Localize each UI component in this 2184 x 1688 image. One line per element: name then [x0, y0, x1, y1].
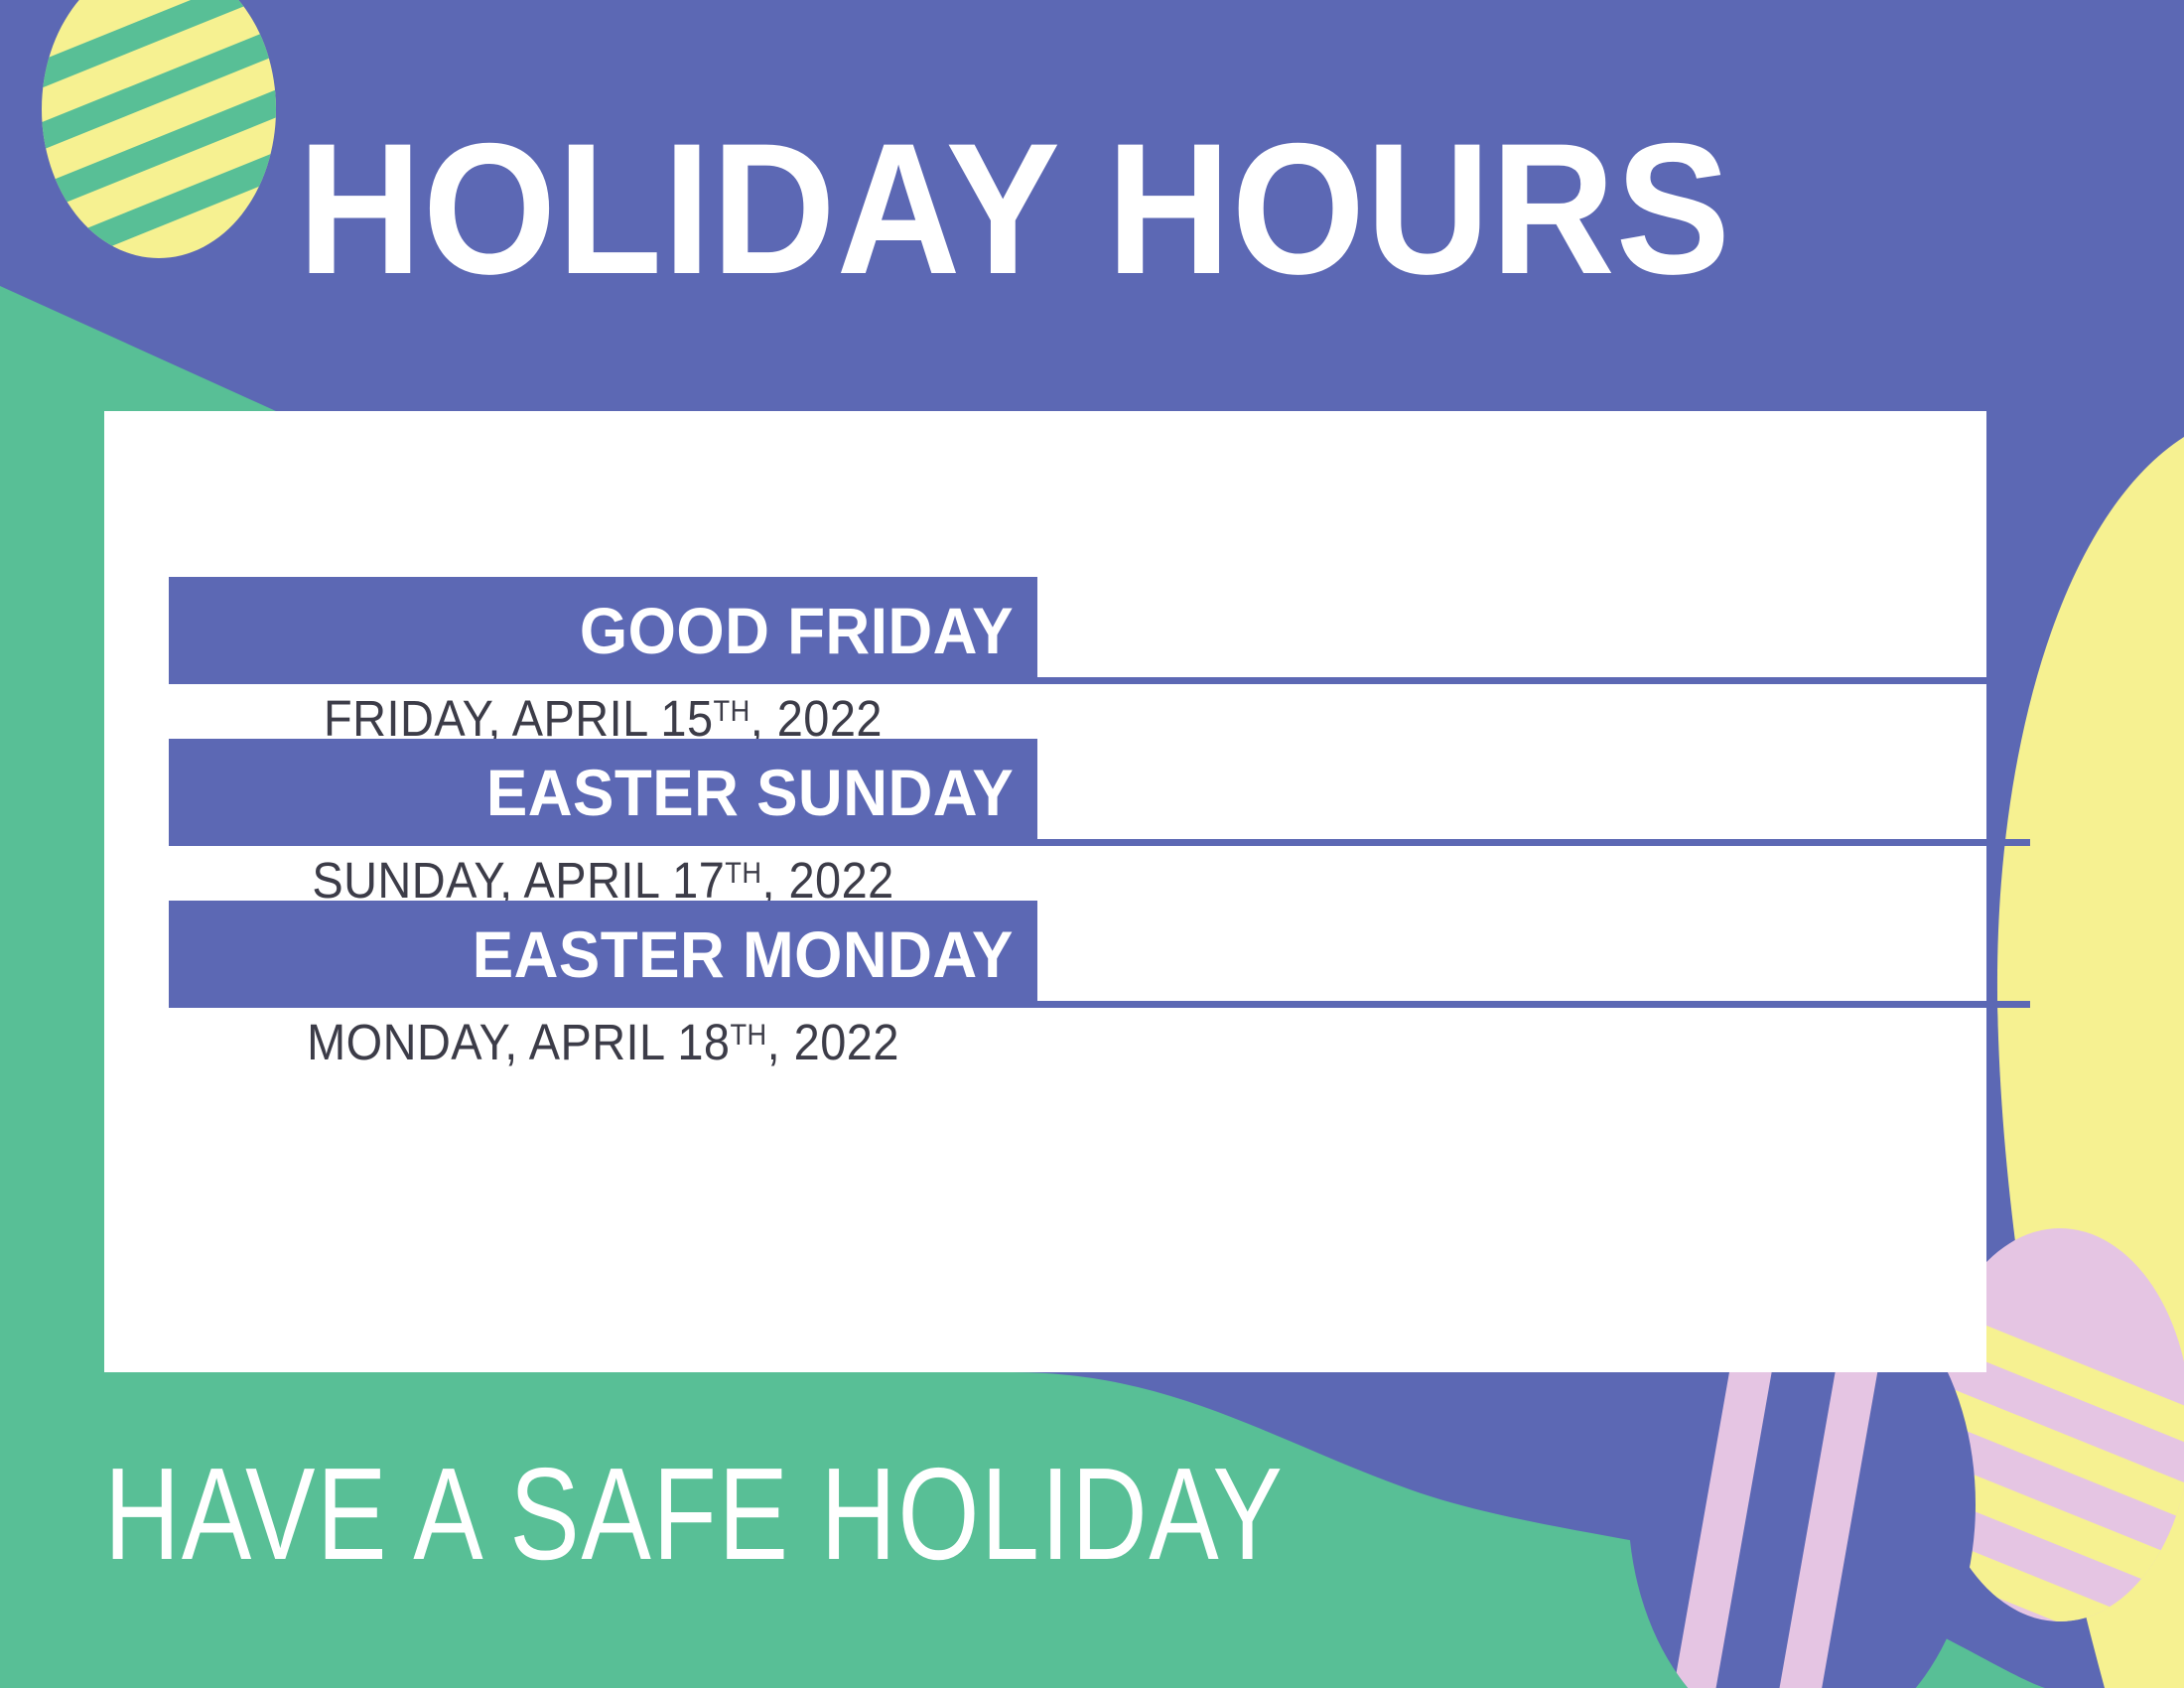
footer-message: HAVE A SAFE HOLIDAY — [104, 1440, 1296, 1589]
holiday-name-label: EASTER MONDAY — [473, 919, 1014, 989]
holiday-name-bar: EASTER MONDAY — [169, 901, 1037, 1008]
holiday-list: GOOD FRIDAY FRIDAY, APRIL 15TH, 2022 EAS… — [0, 0, 2184, 1688]
holiday-name-bar: EASTER SUNDAY — [169, 739, 1037, 846]
holiday-name-bar: GOOD FRIDAY — [169, 577, 1037, 684]
holiday-hours-write-in-line[interactable] — [1037, 677, 2030, 684]
holiday-date: MONDAY, APRIL 18TH, 2022 — [204, 1012, 1003, 1081]
holiday-date-ordinal: TH — [730, 1019, 766, 1052]
holiday-name-label: EASTER SUNDAY — [486, 758, 1014, 827]
holiday-hours-write-in-line[interactable] — [1037, 1001, 2030, 1008]
holiday-name-label: GOOD FRIDAY — [580, 596, 1014, 665]
holiday-date-ordinal: TH — [725, 857, 761, 890]
holiday-hours-poster: HOLIDAY HOURS GOOD FRIDAY FRIDAY, APRIL … — [0, 0, 2184, 1688]
holiday-hours-write-in-line[interactable] — [1037, 839, 2030, 846]
holiday-date-suffix: , 2022 — [767, 1014, 899, 1070]
holiday-date-ordinal: TH — [714, 695, 751, 728]
holiday-date-prefix: MONDAY, APRIL 18 — [307, 1014, 730, 1070]
